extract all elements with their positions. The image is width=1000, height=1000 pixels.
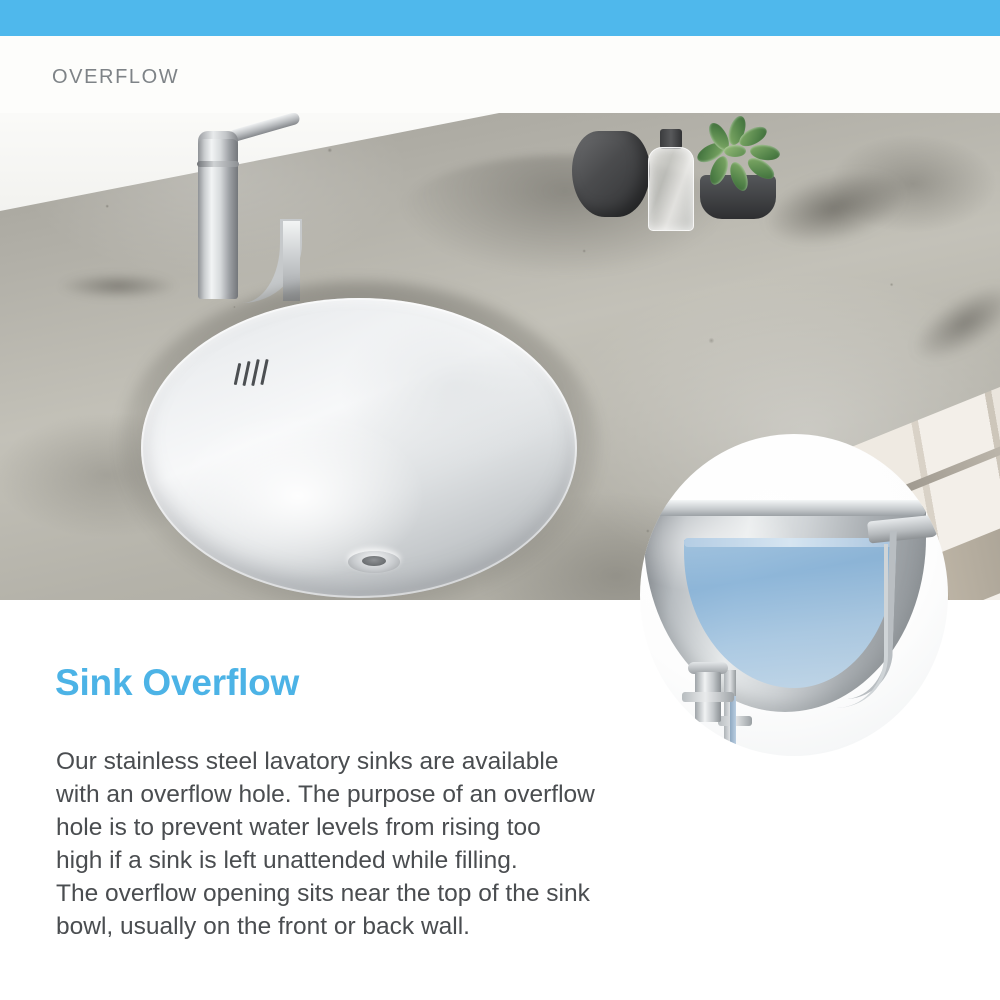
body-line: high if a sink is left unattended while … [56, 844, 676, 877]
header-strip: OVERFLOW [0, 36, 1000, 113]
bottle-neck [660, 129, 682, 149]
succulent-plant [694, 123, 786, 189]
product-info-page: OVERFLOW [0, 0, 1000, 1000]
faucet-shadow [58, 273, 178, 299]
body-line: bowl, usually on the front or back wall. [56, 910, 676, 943]
bottle-body [648, 147, 694, 231]
overflow-slots [236, 359, 282, 387]
body-copy: Our stainless steel lavatory sinks are a… [56, 745, 676, 943]
body-line: with an overflow hole. The purpose of an… [56, 778, 676, 811]
section-heading: Sink Overflow [55, 662, 299, 704]
overflow-cutaway-callout [640, 434, 948, 756]
overflow-slot [251, 359, 259, 386]
cutaway-overflow-channel-inner [836, 544, 888, 708]
overflow-slot [242, 361, 250, 386]
cutaway-drain-assembly [688, 662, 728, 728]
sink-drain-hole [362, 556, 386, 566]
cutaway-bowl-rim [644, 500, 926, 516]
page-title: OVERFLOW [52, 66, 179, 89]
glass-bottle [648, 129, 694, 231]
top-accent-bar [0, 0, 1000, 36]
succulent-leaf [724, 145, 746, 157]
cutaway-stem [730, 696, 736, 756]
faucet-ring [197, 161, 239, 167]
cutaway-drain-nut [682, 692, 734, 702]
faucet [178, 123, 318, 303]
body-line: Our stainless steel lavatory sinks are a… [56, 745, 676, 778]
overflow-slot [260, 359, 268, 385]
body-line: The overflow opening sits near the top o… [56, 877, 676, 910]
body-line: hole is to prevent water levels from ris… [56, 811, 676, 844]
vase [572, 131, 650, 217]
